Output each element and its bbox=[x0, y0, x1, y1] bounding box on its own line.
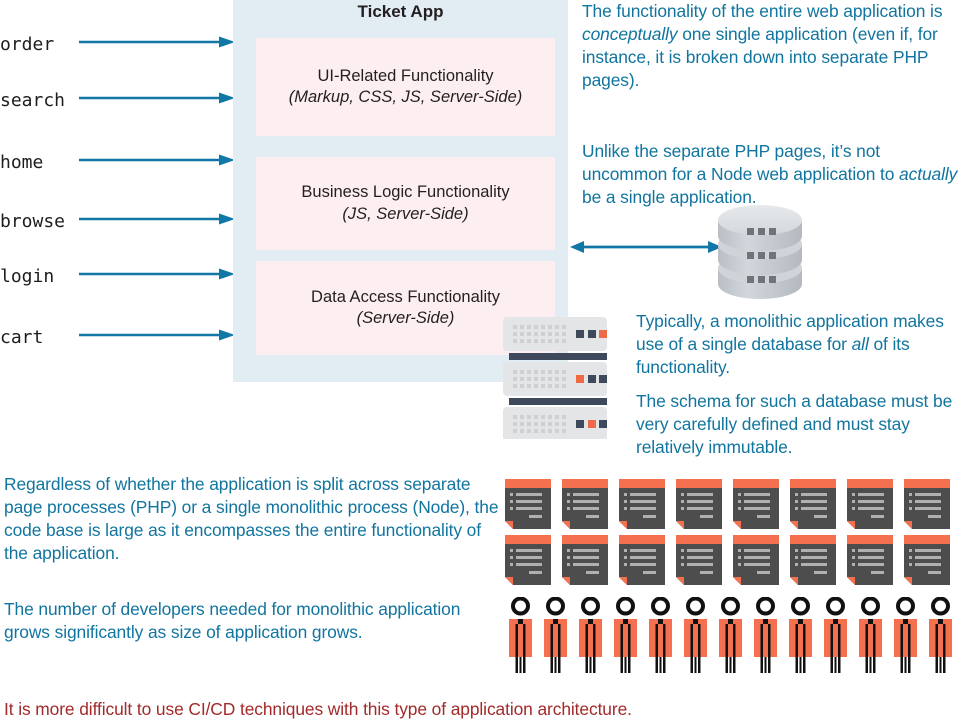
note-emphasis: actually bbox=[899, 164, 957, 184]
note-text-part: Unlike the separate PHP pages, it’s not … bbox=[582, 141, 899, 184]
database-stack-icon bbox=[714, 196, 806, 309]
person-icon bbox=[856, 597, 885, 673]
document-icon bbox=[619, 479, 665, 529]
layer-name: Business Logic Functionality bbox=[301, 182, 509, 203]
document-icon bbox=[733, 479, 779, 529]
note-emphasis: conceptually bbox=[582, 24, 677, 44]
note-single-database: Typically, a monolithic application make… bbox=[636, 310, 960, 379]
right-arrow-icon bbox=[79, 268, 235, 280]
document-icon bbox=[733, 535, 779, 585]
document-icon bbox=[904, 479, 950, 529]
person-icon bbox=[786, 597, 815, 673]
right-arrow-icon bbox=[79, 154, 235, 166]
people-row bbox=[506, 597, 955, 673]
page-title: Ticket App bbox=[233, 2, 568, 22]
note-code-base-size: Regardless of whether the application is… bbox=[4, 473, 504, 566]
right-arrow-icon bbox=[79, 329, 235, 341]
person-icon bbox=[681, 597, 710, 673]
person-icon bbox=[506, 597, 535, 673]
document-icon bbox=[619, 535, 665, 585]
person-icon bbox=[576, 597, 605, 673]
server-rack-icon bbox=[503, 317, 611, 439]
person-icon bbox=[891, 597, 920, 673]
layer-ui-related: UI-Related Functionality (Markup, CSS, J… bbox=[256, 38, 555, 136]
person-icon bbox=[716, 597, 745, 673]
request-label-home: home bbox=[0, 154, 43, 172]
document-icon bbox=[505, 479, 551, 529]
document-icon bbox=[505, 535, 551, 585]
layer-business-logic: Business Logic Functionality (JS, Server… bbox=[256, 157, 555, 250]
note-cicd-difficulty: It is more difficult to use CI/CD techni… bbox=[4, 698, 704, 721]
bidirectional-arrow-icon bbox=[570, 240, 722, 254]
request-label-browse: browse bbox=[0, 213, 65, 231]
document-icon bbox=[847, 479, 893, 529]
document-icon bbox=[676, 479, 722, 529]
right-arrow-icon bbox=[79, 213, 235, 225]
person-icon bbox=[646, 597, 675, 673]
person-icon bbox=[821, 597, 850, 673]
document-icon bbox=[562, 479, 608, 529]
note-schema: The schema for such a database must be v… bbox=[636, 390, 960, 459]
person-icon bbox=[926, 597, 955, 673]
note-developer-count: The number of developers needed for mono… bbox=[4, 598, 504, 644]
document-grid bbox=[505, 479, 960, 591]
right-arrow-icon bbox=[79, 92, 235, 104]
note-conceptually: The functionality of the entire web appl… bbox=[582, 0, 960, 93]
document-icon bbox=[847, 535, 893, 585]
layer-name: UI-Related Functionality bbox=[317, 66, 493, 87]
document-icon bbox=[790, 535, 836, 585]
layer-name: Data Access Functionality bbox=[311, 287, 500, 308]
layer-detail: (JS, Server-Side) bbox=[342, 204, 468, 225]
request-label-cart: cart bbox=[0, 329, 43, 347]
note-unlike-php: Unlike the separate PHP pages, it’s not … bbox=[582, 140, 960, 209]
person-icon bbox=[751, 597, 780, 673]
person-icon bbox=[611, 597, 640, 673]
diagram-canvas: order search home browse login cart bbox=[0, 0, 960, 723]
note-text-part: The functionality of the entire web appl… bbox=[582, 1, 942, 21]
note-emphasis: all bbox=[852, 334, 869, 354]
document-icon bbox=[904, 535, 950, 585]
note-text-part: be a single application. bbox=[582, 187, 757, 207]
document-icon bbox=[676, 535, 722, 585]
request-label-order: order bbox=[0, 36, 54, 54]
right-arrow-icon bbox=[79, 36, 235, 48]
layer-detail: (Markup, CSS, JS, Server-Side) bbox=[289, 87, 523, 108]
document-icon bbox=[562, 535, 608, 585]
document-icon bbox=[790, 479, 836, 529]
request-label-login: login bbox=[0, 268, 54, 286]
layer-detail: (Server-Side) bbox=[357, 308, 455, 329]
request-label-search: search bbox=[0, 92, 65, 110]
person-icon bbox=[541, 597, 570, 673]
